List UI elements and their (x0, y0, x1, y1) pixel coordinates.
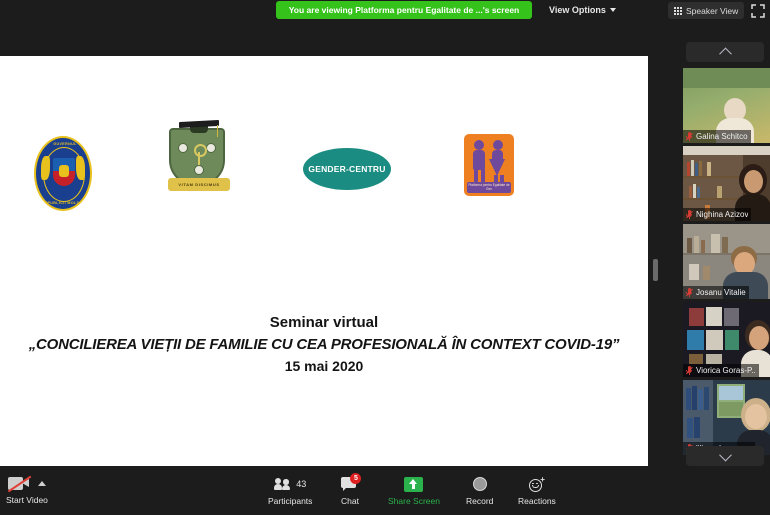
start-video-button[interactable]: Start Video (6, 474, 48, 505)
chat-unread-badge: 5 (350, 473, 361, 484)
mic-muted-icon (686, 366, 693, 376)
scrollbar-thumb[interactable] (653, 259, 658, 281)
grid-view-icon (674, 7, 682, 15)
academy-motto: VITAM DISCIMUS (168, 178, 230, 191)
slide-line-2: „CONCILIEREA VIEȚII DE FAMILIE CU CEA PR… (0, 334, 648, 356)
screen-share-banner-text: You are viewing Platforma pentru Egalita… (289, 5, 520, 15)
gender-centru-text: GENDER-CENTRU (308, 164, 385, 174)
guvernul-republicii-moldova-logo: GUVERNUL REPUBLICII MOLDOVA (34, 136, 92, 211)
chevron-down-icon (719, 448, 732, 461)
participants-button[interactable]: 43 Participants (268, 475, 312, 506)
video-off-icon (8, 477, 30, 490)
platforma-logo-caption: Platforma pentru Egalitate de Gen (467, 182, 511, 193)
start-video-label: Start Video (6, 495, 48, 505)
speaker-view-label: Speaker View (686, 6, 738, 16)
record-button[interactable]: Record (466, 475, 493, 506)
participants-icon (274, 478, 293, 490)
participant-name: Nighina Azizov (696, 210, 748, 219)
slide-line-3: 15 mai 2020 (0, 356, 648, 377)
record-icon (473, 477, 487, 491)
slide-logo-row: GUVERNUL REPUBLICII MOLDOVA (0, 128, 648, 218)
mic-muted-icon (686, 132, 693, 142)
filmstrip-scroll-down-button[interactable] (686, 446, 764, 466)
slide-line-1: Seminar virtual (0, 312, 648, 334)
participant-name-bar: Viorica Goras-P.. (683, 364, 759, 377)
speaker-view-button[interactable]: Speaker View (668, 2, 744, 19)
zoom-meeting-window: You are viewing Platforma pentru Egalita… (0, 0, 770, 515)
platforma-egalitate-gen-logo: Platforma pentru Egalitate de Gen (464, 134, 514, 196)
top-bar: You are viewing Platforma pentru Egalita… (0, 0, 770, 22)
participant-name: Viorica Goras-P.. (696, 366, 756, 375)
reactions-label: Reactions (518, 496, 556, 506)
share-screen-label: Share Screen (388, 496, 440, 506)
participants-label: Participants (268, 496, 312, 506)
graduation-cap-icon (179, 121, 219, 131)
participant-tile[interactable]: Viorica Goras-P.. (683, 302, 770, 377)
participant-tile[interactable]: Galina Schitco (683, 68, 770, 143)
participant-name-bar: Josanu Vitalie (683, 286, 749, 299)
video-options-chevron-icon[interactable] (38, 481, 46, 486)
participant-name-bar: Nighina Azizov (683, 208, 751, 221)
presentation-slide: GUVERNUL REPUBLICII MOLDOVA (0, 56, 648, 466)
slide-title-block: Seminar virtual „CONCILIEREA VIEȚII DE F… (0, 312, 648, 377)
shared-screen-area[interactable]: GUVERNUL REPUBLICII MOLDOVA (0, 22, 668, 466)
mic-muted-icon (686, 210, 693, 220)
participant-tile[interactable]: liliaparhomenco (683, 380, 770, 455)
reactions-button[interactable]: + Reactions (518, 475, 556, 506)
gender-centru-logo: GENDER-CENTRU (303, 148, 391, 190)
share-screen-button[interactable]: Share Screen (388, 475, 440, 506)
reactions-icon: + (529, 477, 545, 492)
participant-name: Josanu Vitalie (696, 288, 746, 297)
view-options-label: View Options (549, 5, 606, 15)
shared-screen-scrollbar[interactable] (651, 56, 660, 466)
fullscreen-expand-icon[interactable] (750, 3, 766, 19)
record-label: Record (466, 496, 493, 506)
participant-name-bar: Galina Schitco (683, 130, 751, 143)
chat-icon: 5 (341, 477, 358, 491)
chevron-up-icon (719, 47, 732, 60)
chevron-down-icon (610, 8, 616, 12)
participant-filmstrip: Galina Schitco (680, 22, 770, 466)
meeting-toolbar: Start Video 43 Participants 5 Chat (0, 466, 770, 515)
participant-tile[interactable]: Josanu Vitalie (683, 224, 770, 299)
arms-text-top: GUVERNUL (36, 142, 92, 146)
chat-label: Chat (341, 496, 359, 506)
mic-muted-icon (686, 288, 693, 298)
view-options-button[interactable]: View Options (544, 1, 621, 19)
filmstrip-scroll-up-button[interactable] (686, 42, 764, 62)
academy-shield-logo: VITAM DISCIMUS (166, 128, 228, 213)
screen-share-banner: You are viewing Platforma pentru Egalita… (276, 1, 532, 19)
participants-count: 43 (296, 479, 306, 489)
chat-button[interactable]: 5 Chat (341, 475, 359, 506)
participant-name: Galina Schitco (696, 132, 748, 141)
participant-tile[interactable]: Nighina Azizov (683, 146, 770, 221)
share-screen-icon (404, 477, 423, 492)
arms-text-bottom: REPUBLICII MOLDOVA (36, 201, 92, 205)
